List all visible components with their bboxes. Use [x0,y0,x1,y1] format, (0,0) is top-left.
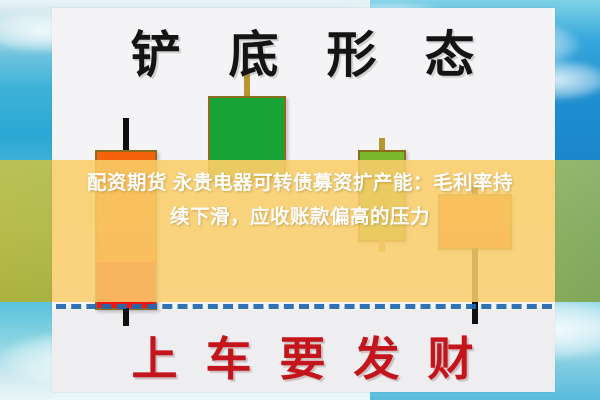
headline-top-char-2: 底 [229,15,281,87]
candle-lower-wick [379,238,385,252]
candle-lower-wick [123,308,129,326]
headline-bottom-char-5: 财 [428,323,476,389]
headline-top-char-1: 铲 [131,15,183,87]
headline-top: 铲 底 形 态 [52,18,555,84]
headline-bottom: 上 车 要 发 财 [52,328,555,384]
headline-bottom-char-3: 要 [280,323,328,389]
promo-image-canvas: 金水湾 股市论金 铲 底 形 态 上 车 要 发 财 配资期货 永贵电器可转债募… [0,0,600,400]
headline-top-char-3: 形 [327,15,379,87]
candle-lower-wick [472,248,478,324]
headline-top-char-4: 态 [425,15,477,87]
candle-body-red [95,262,157,310]
headline-bottom-char-2: 车 [206,323,254,389]
headline-bottom-char-4: 发 [354,323,402,389]
article-title-line-2: 续下滑，应收账款偏高的压力 [16,200,584,234]
support-trend-line [56,304,552,309]
article-title-overlay: 配资期货 永贵电器可转债募资扩产能：毛利率持 续下滑，应收账款偏高的压力 [16,166,584,234]
candle-body-green [208,96,286,164]
article-title-line-1: 配资期货 永贵电器可转债募资扩产能：毛利率持 [16,166,584,200]
headline-bottom-char-1: 上 [132,323,180,389]
